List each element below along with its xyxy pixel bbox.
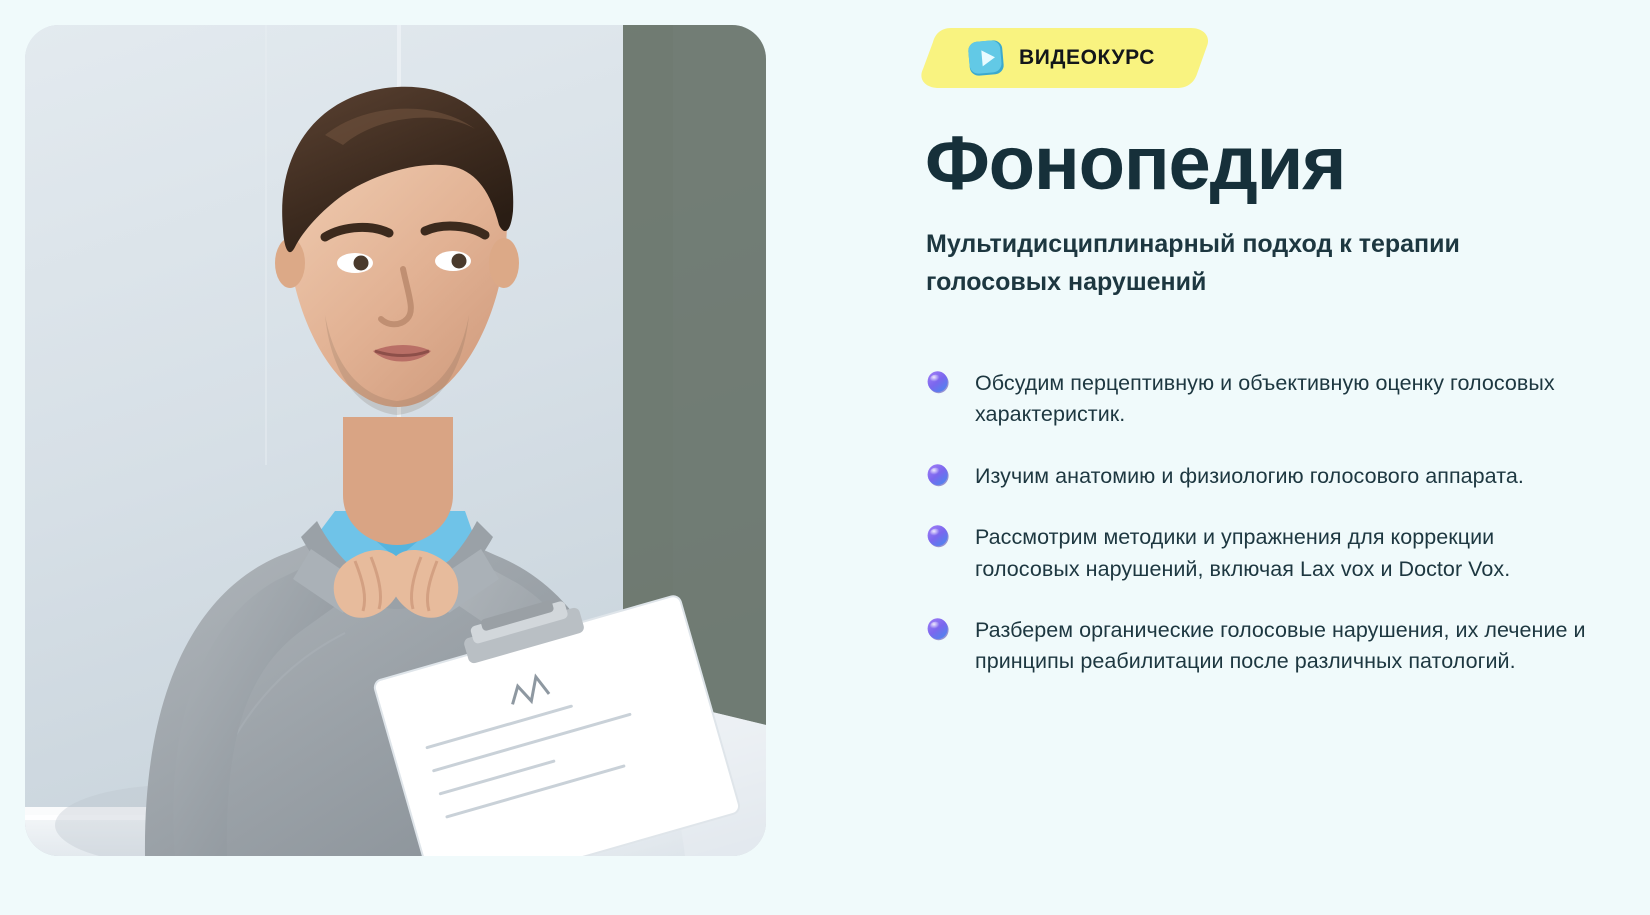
photo-illustration — [25, 25, 766, 856]
gradient-sphere-bullet-icon — [926, 370, 950, 394]
page-subtitle: Мультидисциплинарный подход к терапии го… — [926, 225, 1566, 301]
list-item-label: Рассмотрим методики и упражнения для кор… — [975, 522, 1586, 585]
list-item-label: Разберем органические голосовые нарушени… — [975, 615, 1586, 678]
list-item-label: Изучим анатомию и физиологию голосового … — [975, 461, 1524, 492]
list-item-label: Обсудим перцептивную и объективную оценк… — [975, 368, 1586, 431]
list-item: Рассмотрим методики и упражнения для кор… — [926, 522, 1586, 585]
gradient-sphere-bullet-icon — [926, 617, 950, 641]
course-highlights-list: Обсудим перцептивную и объективную оценк… — [926, 368, 1586, 678]
gradient-sphere-bullet-icon — [926, 463, 950, 487]
badge-label: ВИДЕОКУРС — [1019, 46, 1155, 70]
promo-page: ВИДЕОКУРС Фонопедия Мультидисциплинарный… — [0, 0, 1650, 915]
course-hero-photo — [25, 25, 766, 856]
list-item: Обсудим перцептивную и объективную оценк… — [926, 368, 1586, 431]
course-info-panel: ВИДЕОКУРС Фонопедия Мультидисциплинарный… — [915, 0, 1615, 915]
gradient-sphere-bullet-icon — [926, 524, 950, 548]
play-icon — [965, 37, 1006, 78]
list-item: Изучим анатомию и физиологию голосового … — [926, 461, 1586, 492]
list-item: Разберем органические голосовые нарушени… — [926, 615, 1586, 678]
page-title: Фонопедия — [925, 126, 1345, 202]
videocourse-badge: ВИДЕОКУРС — [915, 28, 1215, 88]
